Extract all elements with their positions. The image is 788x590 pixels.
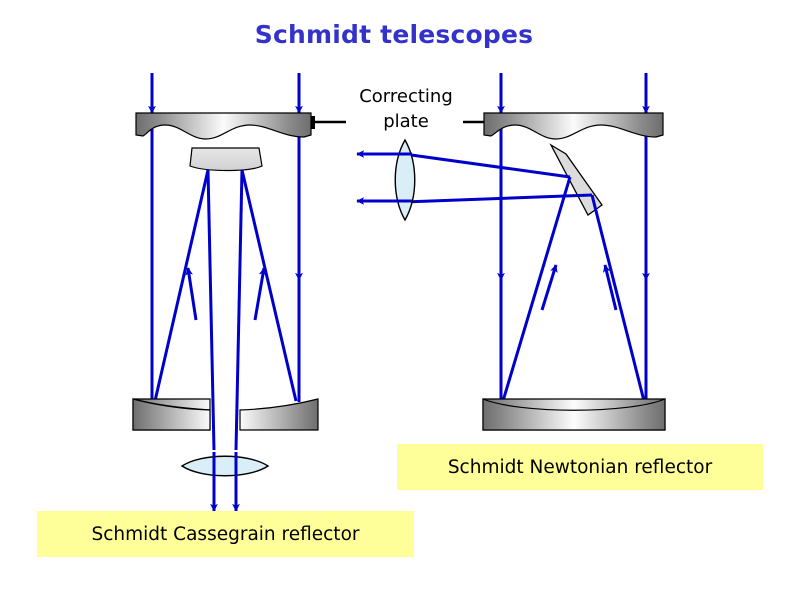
cassegrain-primary-mirror <box>133 399 318 430</box>
primary-mirror-right-face <box>240 399 318 430</box>
newtonian-down-rays <box>501 95 646 402</box>
correcting-plate-callout-line1: Correcting <box>345 84 467 109</box>
ray-up-left-arrow <box>188 268 196 320</box>
cassegrain-down-rays <box>152 95 299 402</box>
cassegrain-through-hole-rays <box>208 170 242 450</box>
newtonian-primary-mirror <box>483 399 665 430</box>
ray-up-left-n <box>503 177 570 401</box>
page-title: Schmidt telescopes <box>0 20 788 49</box>
ray-deflect-upper <box>404 154 570 177</box>
newtonian-reflected-up-rays <box>503 177 644 401</box>
newtonian-corrector-plate <box>484 113 663 139</box>
schmidt-cassegrain-telescope <box>133 73 346 511</box>
ray-up-right-arrow <box>255 268 264 320</box>
newtonian-incoming-rays <box>501 73 646 113</box>
cassegrain-corrector-leader <box>311 116 346 129</box>
correcting-plate-callout: Correcting plate <box>345 84 467 134</box>
correcting-plate-callout-line2: plate <box>345 109 467 134</box>
ray-hole-right <box>236 170 242 450</box>
label-schmidt-newtonian-reflector: Schmidt Newtonian reflector <box>397 444 763 490</box>
newtonian-eyepiece-lens <box>395 140 415 220</box>
cassegrain-reflected-up-rays <box>155 170 296 401</box>
ray-up-right <box>242 170 296 401</box>
cassegrain-eyepiece-lens <box>182 456 268 476</box>
cassegrain-secondary-mirror <box>190 148 262 171</box>
ray-up-right-n <box>592 195 644 401</box>
diagram-canvas: Schmidt telescopes Correcting plate Schm… <box>0 0 788 590</box>
cassegrain-incoming-rays <box>152 73 299 113</box>
label-schmidt-cassegrain-reflector: Schmidt Cassegrain reflector <box>37 511 414 557</box>
cassegrain-corrector-plate <box>136 113 311 139</box>
ray-up-left <box>155 170 208 401</box>
ray-up-left-n-arrow <box>542 265 556 310</box>
